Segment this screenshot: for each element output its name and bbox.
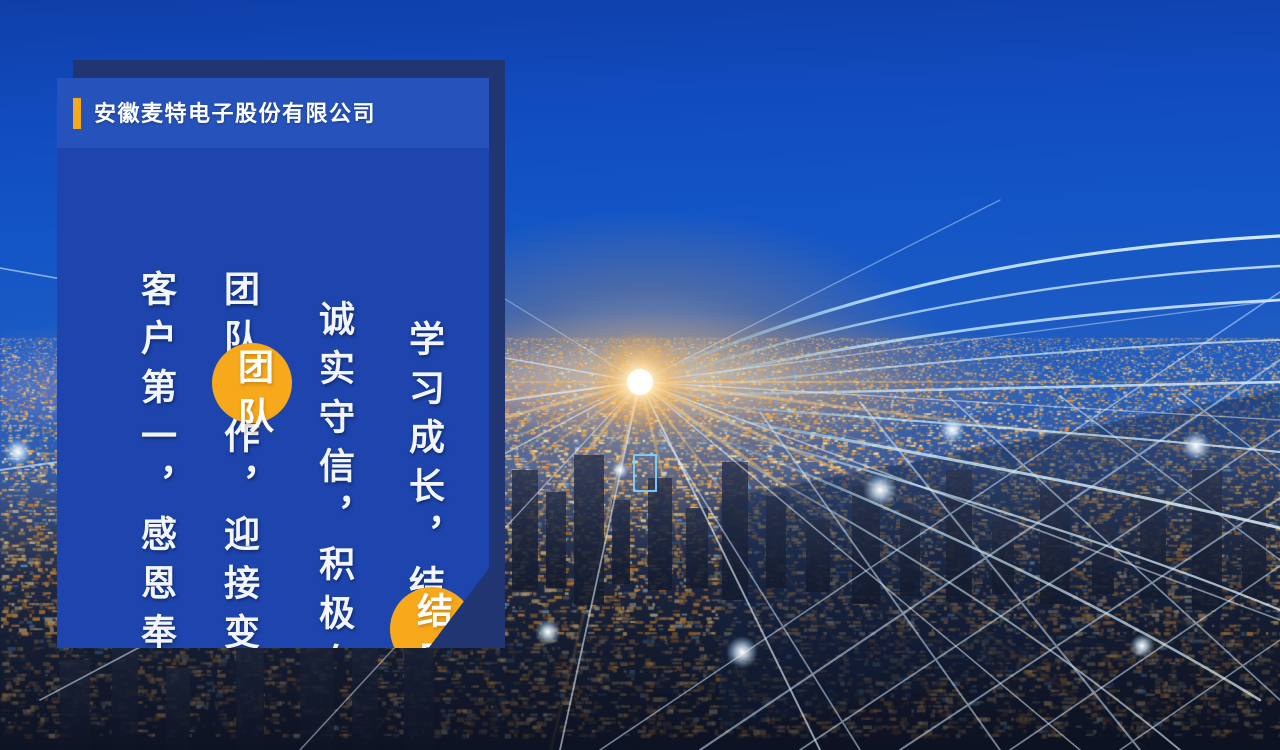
slogan-column-2: 团队合作，迎接变化 [220, 270, 256, 711]
slogan-columns: 客户第一，感恩奉献 团队合作，迎接变化 诚实守信，积极向上 学习成长，结果为王 … [57, 148, 489, 648]
company-values-panel: 安徽麦特电子股份有限公司 客户第一，感恩奉献 团队合作，迎接变化 诚实守信，积极… [57, 78, 489, 648]
slogan-column-1: 客户第一，感恩奉献 [137, 270, 173, 711]
poster-canvas: 安徽麦特电子股份有限公司 客户第一，感恩奉献 团队合作，迎接变化 诚实守信，积极… [0, 0, 1280, 750]
badge-label-team: 团队 [234, 348, 270, 446]
accent-bar-icon [73, 98, 81, 129]
company-name: 安徽麦特电子股份有限公司 [94, 96, 376, 128]
